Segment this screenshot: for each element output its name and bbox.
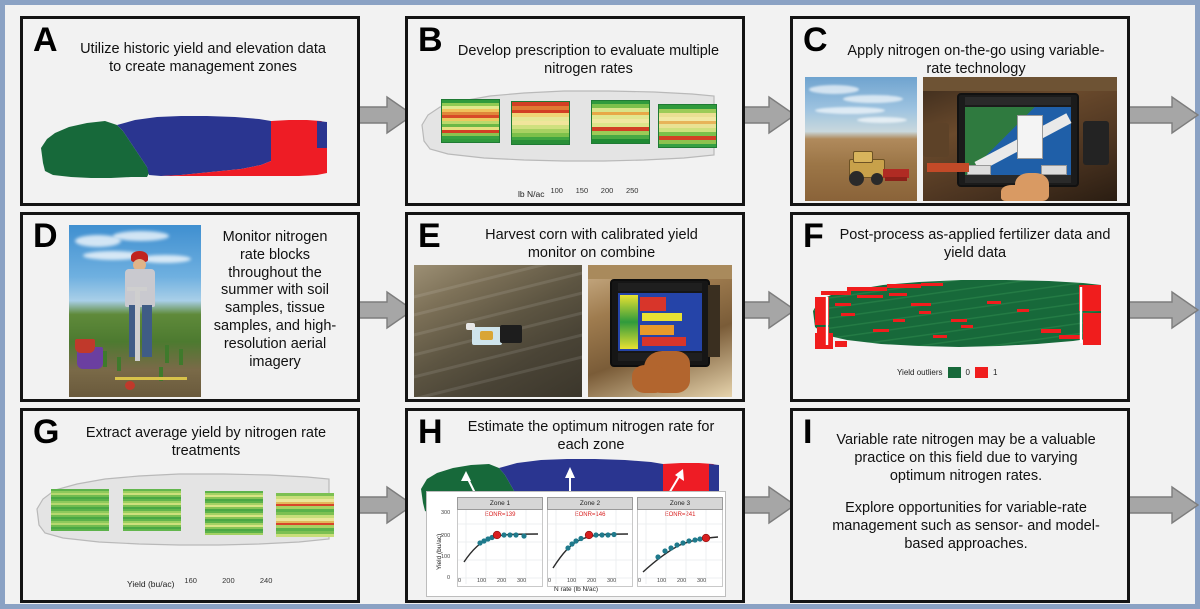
legend-g-tick-0: 160 bbox=[184, 576, 197, 585]
facet-zone-2: Zone 2 EONR=146 bbox=[547, 497, 633, 585]
legend-f-label: Yield outliers bbox=[897, 368, 943, 377]
legend-b-ticks: 100 150 200 250 bbox=[550, 186, 638, 195]
eonr-x3-tick-300: 300 bbox=[697, 578, 706, 584]
eonr-x3-tick-0: 0 bbox=[638, 578, 641, 584]
eonr-chart-panel: Yield (bu/ac) 300 200 100 0 Zone 1 EONR=… bbox=[426, 491, 726, 597]
eonr-x3-tick-100: 100 bbox=[657, 578, 666, 584]
panel-c: C Apply nitrogen on-the-go using variabl… bbox=[790, 16, 1130, 206]
panel-i: I Variable rate nitrogen may be a valuab… bbox=[790, 408, 1130, 603]
panel-e-letter: E bbox=[418, 219, 440, 253]
panel-g-letter: G bbox=[33, 415, 58, 449]
eonr-y-axis-title: Yield (bu/ac) bbox=[436, 534, 443, 570]
legend-b-tick-1: 150 bbox=[576, 186, 589, 195]
eonr-x-tick-100: 100 bbox=[477, 578, 486, 584]
panel-grid: A Utilize historic yield and elevation d… bbox=[10, 10, 1200, 609]
zone-map-a bbox=[31, 103, 351, 193]
facet-zone-2-header: Zone 2 bbox=[547, 497, 633, 510]
legend-f-swatch-1 bbox=[975, 367, 988, 378]
legend-b-tick-0: 100 bbox=[550, 186, 563, 195]
eonr-x2-tick-0: 0 bbox=[548, 578, 551, 584]
yield-block-3 bbox=[205, 491, 263, 535]
yield-block-1 bbox=[51, 489, 109, 531]
panel-d-title: Monitor nitrogen rate blocks throughout … bbox=[209, 229, 341, 372]
panel-f-title: Post-process as-applied fertilizer data … bbox=[839, 227, 1111, 263]
panel-d: D Monitor nitrogen rate blocks throughou… bbox=[20, 212, 360, 402]
eonr-y-tick-200: 200 bbox=[441, 533, 450, 539]
legend-b: lb N/ac 100 150 200 250 bbox=[518, 185, 638, 199]
panel-e: E Harvest corn with calibrated yield mon… bbox=[405, 212, 745, 402]
panel-d-letter: D bbox=[33, 219, 57, 253]
rx-block-1 bbox=[441, 99, 500, 143]
legend-f-value-1: 1 bbox=[993, 368, 997, 377]
eonr-y-tick-0: 0 bbox=[447, 575, 450, 581]
facet-zone-1-header: Zone 1 bbox=[457, 497, 543, 510]
panel-h-letter: H bbox=[418, 415, 442, 449]
panel-g: G Extract average yield by nitrogen rate… bbox=[20, 408, 360, 603]
eonr-x-tick-300: 300 bbox=[517, 578, 526, 584]
eonr-x-tick-200: 200 bbox=[497, 578, 506, 584]
panel-f: F Post-process as-applied fertilizer dat… bbox=[790, 212, 1130, 402]
panel-i-letter: I bbox=[803, 415, 811, 449]
legend-f-value-0: 0 bbox=[966, 368, 970, 377]
eonr-x2-tick-200: 200 bbox=[587, 578, 596, 584]
arrow-c-out bbox=[1128, 95, 1200, 135]
legend-g-tick-1: 200 bbox=[222, 576, 235, 585]
rx-block-2 bbox=[511, 101, 570, 145]
panel-a-title: Utilize historic yield and elevation dat… bbox=[78, 41, 328, 77]
eonr-x3-tick-200: 200 bbox=[677, 578, 686, 584]
rx-block-4 bbox=[658, 104, 717, 148]
panel-c-title: Apply nitrogen on-the-go using variable-… bbox=[841, 43, 1111, 79]
arrow-f-out bbox=[1128, 290, 1200, 330]
legend-g: Yield (bu/ac) 160 200 240 bbox=[127, 575, 276, 589]
legend-b-tick-2: 200 bbox=[601, 186, 614, 195]
legend-f-swatch-0 bbox=[948, 367, 961, 378]
photo-researcher-soil-sampling bbox=[69, 225, 201, 397]
legend-f: Yield outliers 0 1 bbox=[897, 367, 997, 378]
panel-c-letter: C bbox=[803, 23, 827, 57]
panel-e-title: Harvest corn with calibrated yield monit… bbox=[464, 227, 719, 263]
panel-a: A Utilize historic yield and elevation d… bbox=[20, 16, 360, 206]
legend-g-ticks: 160 200 240 bbox=[180, 576, 276, 585]
facet-zone-1: Zone 1 EONR=139 bbox=[457, 497, 543, 585]
panel-b-title: Develop prescription to evaluate multipl… bbox=[456, 43, 721, 79]
panel-b-letter: B bbox=[418, 23, 442, 57]
yield-block-2 bbox=[123, 489, 181, 531]
legend-b-tick-3: 250 bbox=[626, 186, 639, 195]
rx-block-3 bbox=[591, 100, 650, 144]
facet-zone-3: Zone 3 EONR=241 bbox=[637, 497, 723, 585]
photo-aerial-combine-harvest bbox=[414, 265, 582, 397]
panel-a-letter: A bbox=[33, 23, 57, 57]
photo-tractor-in-field bbox=[805, 77, 917, 201]
photo-cab-display-monitor bbox=[923, 77, 1117, 201]
panel-f-letter: F bbox=[803, 219, 823, 253]
panel-i-paragraph-2: Explore opportunities for variable-rate … bbox=[825, 499, 1107, 553]
eonr-x2-tick-300: 300 bbox=[607, 578, 616, 584]
panel-i-paragraph-1: Variable rate nitrogen may be a valuable… bbox=[825, 431, 1107, 485]
panel-h-title: Estimate the optimum nitrogen rate for e… bbox=[462, 419, 720, 455]
panel-h: H Estimate the optimum nitrogen rate for… bbox=[405, 408, 745, 603]
photo-yield-monitor-display bbox=[588, 265, 732, 397]
yield-block-4 bbox=[276, 493, 334, 537]
eonr-x2-tick-100: 100 bbox=[567, 578, 576, 584]
panel-g-title: Extract average yield by nitrogen rate t… bbox=[81, 425, 331, 461]
eonr-x-tick-0: 0 bbox=[458, 578, 461, 584]
figure-frame: A Utilize historic yield and elevation d… bbox=[0, 0, 1200, 609]
facet-zone-3-header: Zone 3 bbox=[637, 497, 723, 510]
legend-g-label: Yield (bu/ac) bbox=[127, 575, 174, 589]
outlier-map-f bbox=[801, 273, 1125, 363]
legend-b-label: lb N/ac bbox=[518, 185, 544, 199]
arrow-i-out bbox=[1128, 485, 1200, 525]
eonr-y-tick-300: 300 bbox=[441, 510, 450, 516]
panel-b: B Develop prescription to evaluate multi… bbox=[405, 16, 745, 206]
eonr-x-axis-title: N rate (lb N/ac) bbox=[427, 586, 725, 593]
eonr-y-tick-100: 100 bbox=[441, 554, 450, 560]
legend-g-tick-2: 240 bbox=[260, 576, 273, 585]
